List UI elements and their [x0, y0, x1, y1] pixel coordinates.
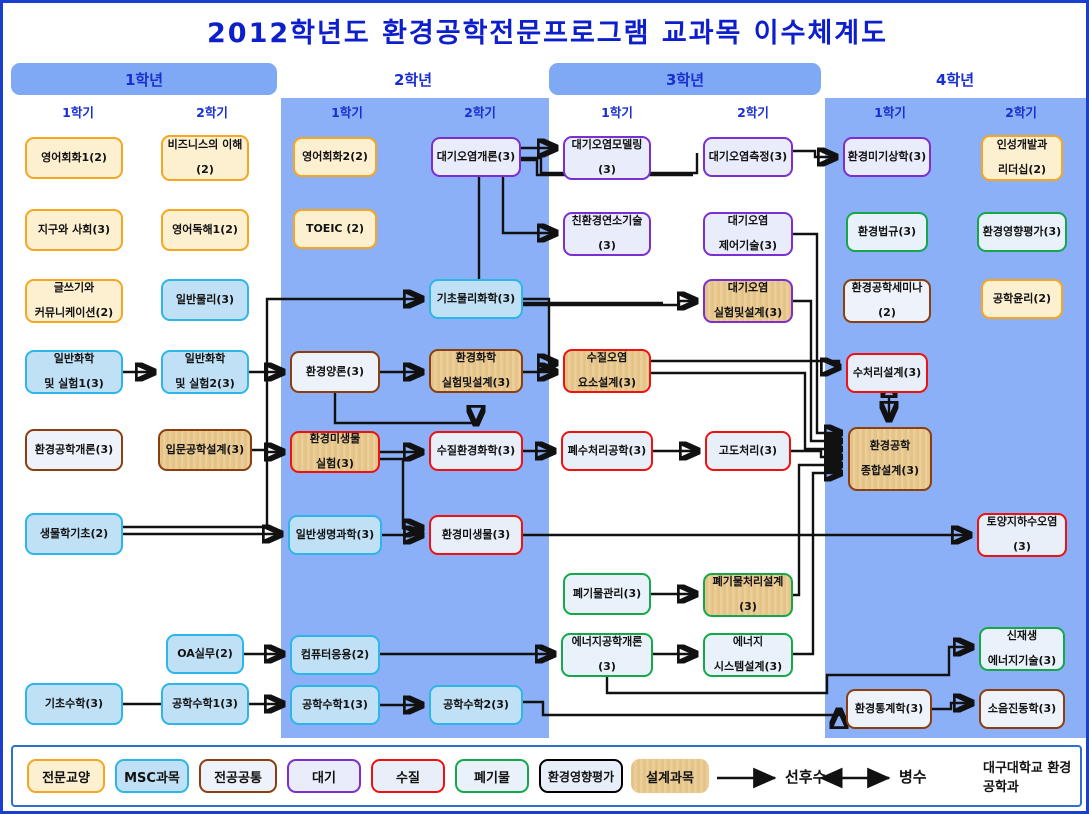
semester-header-4-2: 2학기: [955, 99, 1087, 123]
course-box-c49[interactable]: 토양지하수오염(3): [977, 513, 1067, 557]
course-box-c22[interactable]: 대기오염개론(3): [431, 137, 521, 177]
course-box-c29[interactable]: 친환경연소기술(3): [563, 212, 651, 256]
course-box-c51[interactable]: 소음진동학(3): [979, 689, 1065, 729]
legend-item-water[interactable]: 수질: [371, 759, 445, 793]
legend-label-concurrent: 병수: [899, 759, 927, 793]
course-box-c36[interactable]: 대기오염실험및설계(3): [703, 279, 793, 323]
course-box-c20[interactable]: 컴퓨터응용(2): [290, 635, 380, 675]
course-box-c15[interactable]: 영어회화2(2): [293, 137, 377, 177]
course-box-c45[interactable]: 환경통계학(3): [846, 689, 932, 729]
course-box-c28[interactable]: 대기오염모델링(3): [563, 136, 651, 180]
course-box-c27[interactable]: 공학수학2(3): [429, 685, 523, 725]
semester-header-1-2: 2학기: [145, 99, 279, 123]
course-box-c19[interactable]: 일반생명과학(3): [288, 515, 382, 555]
course-box-c42[interactable]: 환경공학세미나(2): [843, 279, 931, 323]
course-box-c47[interactable]: 환경영향평가(3): [977, 212, 1067, 252]
course-box-c31[interactable]: 폐수처리공학(3): [561, 431, 653, 471]
year-header-2: 2학년: [281, 63, 545, 95]
course-box-c18[interactable]: 환경미생물실험(3): [290, 431, 380, 473]
course-box-c33[interactable]: 에너지공학개론(3): [561, 633, 653, 677]
course-box-c40[interactable]: 환경미기상학(3): [843, 137, 931, 177]
course-box-c9[interactable]: 영어독해1(2): [161, 209, 249, 251]
course-box-c38[interactable]: 폐기물처리설계(3): [703, 573, 793, 617]
course-box-c17[interactable]: 환경양론(3): [290, 351, 380, 393]
course-box-c11[interactable]: 일반화학및 실험2(3): [161, 350, 249, 394]
course-box-c41[interactable]: 환경법규(3): [846, 212, 928, 252]
course-box-c4[interactable]: 일반화학및 실험1(3): [25, 350, 123, 394]
course-box-c14[interactable]: 공학수학1(3): [161, 683, 249, 725]
course-box-c39[interactable]: 에너지시스템설계(3): [703, 633, 793, 677]
course-box-c34[interactable]: 대기오염측정(3): [703, 137, 793, 177]
curriculum-flowchart-page: 2012학년도 환경공학전문프로그램 교과목 이수체계도 1학년 2학년 3학년…: [0, 0, 1089, 814]
course-box-c23[interactable]: 기초물리화학(3): [429, 279, 523, 319]
course-box-c30[interactable]: 수질오염요소설계(3): [563, 349, 651, 393]
legend-item-waste[interactable]: 폐기물: [455, 759, 529, 793]
course-box-c24[interactable]: 환경화학실험및설계(3): [429, 349, 523, 393]
semester-header-4-1: 1학기: [825, 99, 955, 123]
legend-item-eia[interactable]: 환경영향평가: [539, 759, 623, 793]
semester-header-3-2: 2학기: [685, 99, 821, 123]
year-header-1: 1학년: [11, 63, 277, 95]
legend-item-air[interactable]: 대기: [287, 759, 361, 793]
course-box-c32[interactable]: 폐기물관리(3): [563, 573, 651, 615]
course-box-c1[interactable]: 영어회화1(2): [25, 137, 123, 179]
semester-header-3-1: 1학기: [549, 99, 685, 123]
course-box-c21[interactable]: 공학수학1(3): [290, 685, 380, 725]
legend-item-design[interactable]: 설계과목: [631, 759, 709, 793]
course-box-c46[interactable]: 인성개발과리더십(2): [981, 135, 1063, 181]
course-box-c5[interactable]: 환경공학개론(3): [25, 429, 123, 471]
course-box-c2[interactable]: 지구와 사회(3): [25, 209, 123, 251]
year-header-3: 3학년: [549, 63, 821, 95]
semester-header-2-1: 1학기: [281, 99, 413, 123]
semester-header-1-1: 1학기: [11, 99, 145, 123]
course-box-c43[interactable]: 수처리설계(3): [846, 353, 928, 393]
legend: 전문교양 MSC과목 전공공통 대기 수질 폐기물 환경영향평가 설계과목 선후…: [11, 745, 1082, 807]
legend-org-label: 대구대학교 환경공학과: [983, 759, 1080, 793]
course-box-c50[interactable]: 신재생에너지기술(3): [979, 627, 1065, 671]
course-box-c37[interactable]: 고도처리(3): [705, 431, 791, 471]
page-title: 2012학년도 환경공학전문프로그램 교과목 이수체계도: [3, 11, 1089, 50]
course-box-c10[interactable]: 일반물리(3): [161, 279, 249, 321]
course-box-c3[interactable]: 글쓰기와커뮤니케이션(2): [25, 279, 123, 323]
course-box-c48[interactable]: 공학윤리(2): [981, 279, 1063, 319]
course-box-c12[interactable]: 입문공학설계(3): [158, 429, 252, 471]
legend-item-general[interactable]: 전문교양: [27, 759, 105, 793]
course-box-c44[interactable]: 환경공학종합설계(3): [848, 427, 932, 491]
course-box-c8[interactable]: 비즈니스의 이해(2): [161, 135, 249, 181]
course-box-c16[interactable]: TOEIC (2): [293, 209, 377, 249]
course-box-c13[interactable]: OA실무(2): [166, 634, 244, 674]
legend-item-common[interactable]: 전공공통: [199, 759, 277, 793]
course-box-c35[interactable]: 대기오염제어기술(3): [703, 212, 793, 256]
course-box-c25[interactable]: 수질환경화학(3): [429, 431, 523, 471]
year-header-4: 4학년: [825, 63, 1085, 95]
course-box-c26[interactable]: 환경미생물(3): [429, 515, 523, 555]
legend-item-msc[interactable]: MSC과목: [115, 759, 189, 793]
semester-header-2-2: 2학기: [413, 99, 547, 123]
course-box-c6[interactable]: 생물학기초(2): [25, 513, 123, 555]
course-box-c7[interactable]: 기초수학(3): [25, 683, 123, 725]
legend-label-prereq: 선후수: [785, 759, 826, 793]
